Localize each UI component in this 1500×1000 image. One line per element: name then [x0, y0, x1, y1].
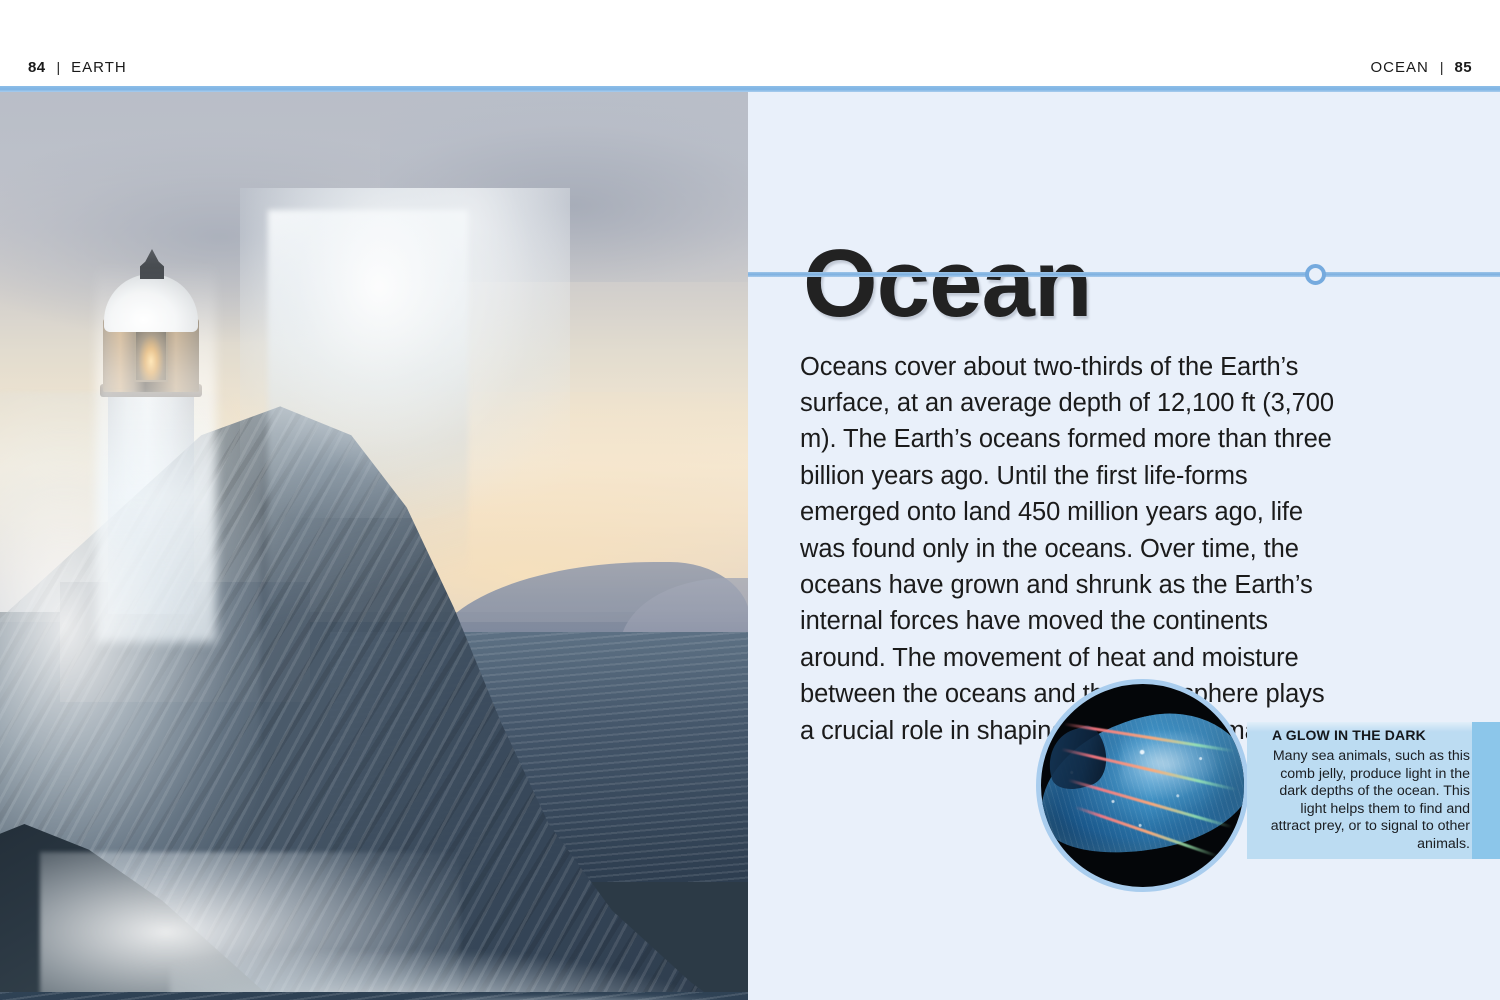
callout-accent-strip: [1472, 722, 1500, 859]
title-underline-rule: [748, 272, 1500, 277]
folio-separator-left: |: [57, 59, 61, 75]
folio-right: 85: [1455, 59, 1473, 76]
photo-wave-crest: [240, 188, 570, 518]
running-head: 84 | EARTH OCEAN | 85: [0, 0, 1500, 86]
callout-heading: A GLOW IN THE DARK: [1272, 727, 1426, 743]
chapter-label-right: OCEAN: [1371, 59, 1429, 76]
book-spread: 84 | EARTH OCEAN | 85: [0, 0, 1500, 1000]
chapter-label-left: EARTH: [71, 59, 127, 76]
main-photograph: [0, 92, 748, 1000]
running-head-left: 84 | EARTH: [28, 59, 127, 76]
running-head-right: OCEAN | 85: [1371, 59, 1472, 76]
callout-text: Many sea animals, such as this comb jell…: [1262, 748, 1470, 854]
intro-paragraph: Oceans cover about two-thirds of the Ear…: [800, 349, 1340, 749]
folio-left: 84: [28, 59, 46, 76]
folio-separator-right: |: [1440, 59, 1444, 75]
page-title: Ocean: [803, 236, 1091, 332]
comb-jelly-inset-photo: [1036, 679, 1249, 892]
title-rule-end-circle-icon: [1305, 264, 1326, 285]
